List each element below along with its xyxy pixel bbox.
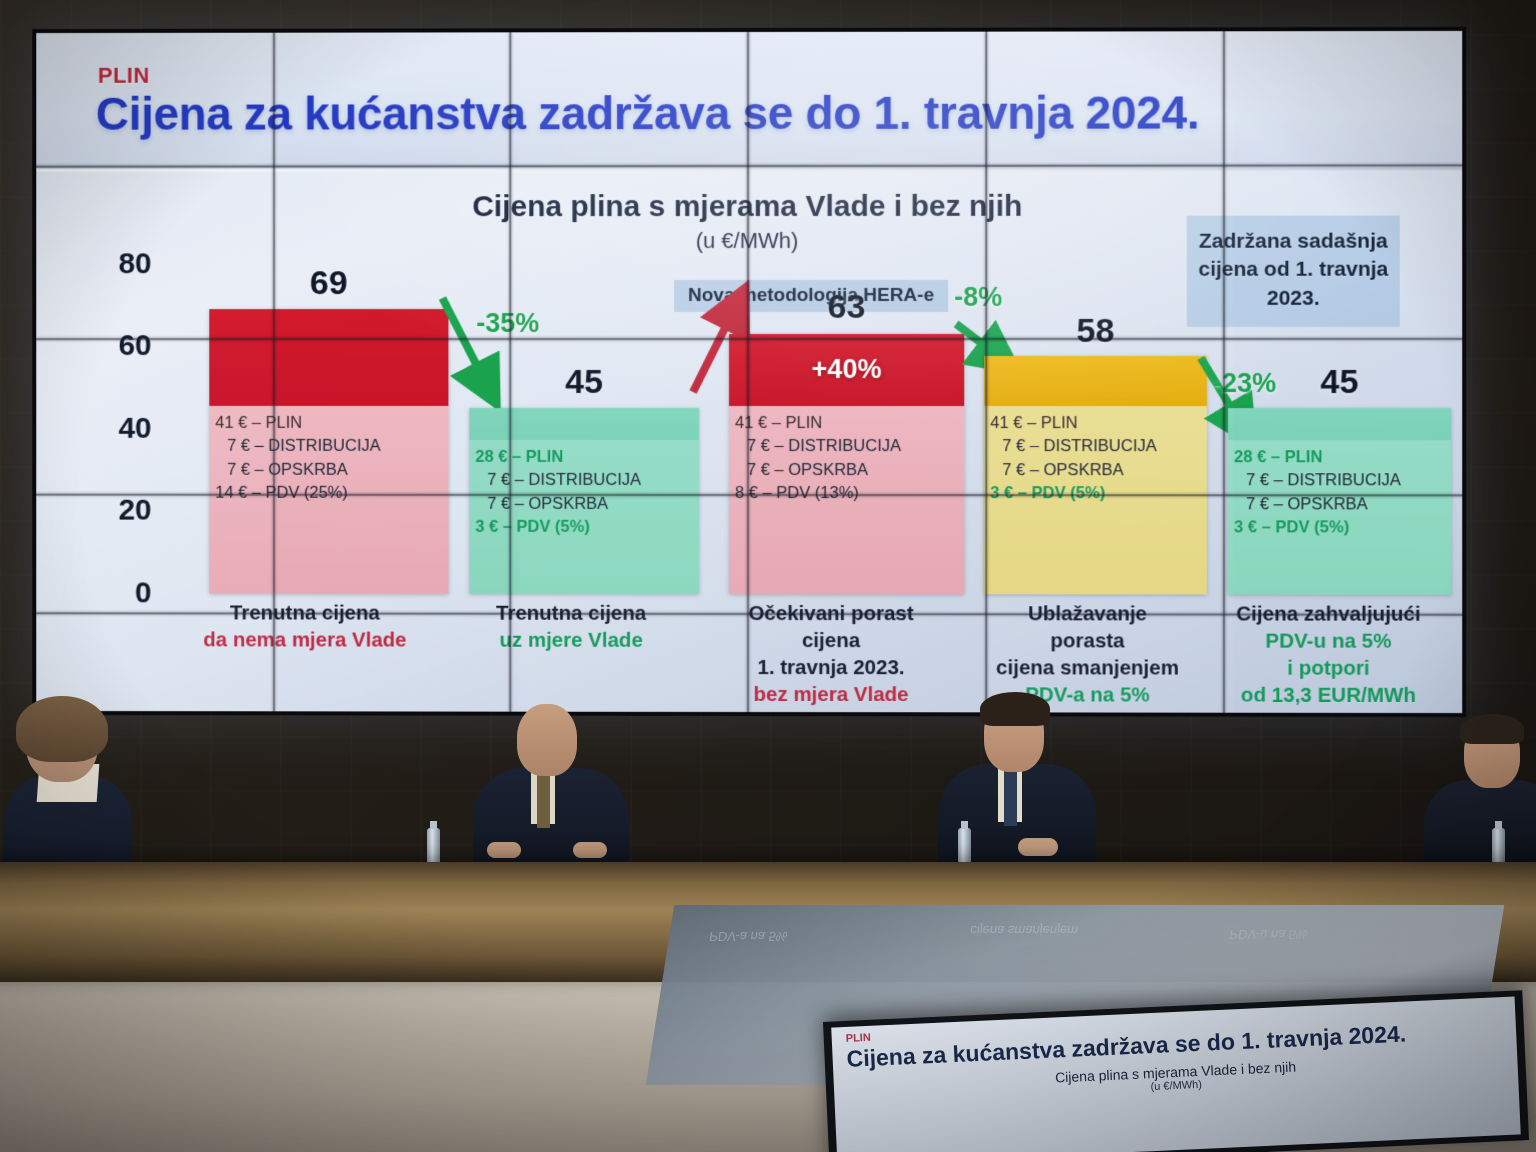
panelist-1 xyxy=(0,705,140,880)
slide-kicker: PLIN xyxy=(98,63,150,89)
y-tick-0: 0 xyxy=(135,576,152,610)
bar-2-top-segment xyxy=(469,408,699,440)
reflection-text-2: cijena smanjenjem xyxy=(969,923,1079,938)
bar-4-item-2: 7 € – OPSKRBA xyxy=(984,459,1207,483)
bar-1-item-2: 7 € – OPSKRBA xyxy=(209,459,448,482)
panelist-3-hair xyxy=(980,692,1050,726)
bar-column-1: 69 41 € – PLIN 7 € – DISTRIBUCIJA 7 € – … xyxy=(209,264,448,594)
caption-4-line-0: Ublažavanje xyxy=(962,600,1213,627)
caption-1: Trenutna cijena da nema mjera Vlade xyxy=(180,599,429,653)
caption-5-line-2: i potpori xyxy=(1203,655,1454,682)
bar-4-item-3: 3 € – PDV (5%) xyxy=(984,482,1207,506)
bar-column-2: 45 28 € – PLIN 7 € – DISTRIBUCIJA 7 € – … xyxy=(469,264,699,594)
y-tick-20: 20 xyxy=(118,494,151,528)
bar-column-4: 58 41 € – PLIN 7 € – DISTRIBUCIJA 7 € – … xyxy=(984,264,1207,595)
y-axis: 80 60 40 20 0 xyxy=(80,264,152,593)
video-wall: PLIN Cijena za kućanstva zadržava se do … xyxy=(32,27,1466,717)
bar-3-item-3: 8 € – PDV (13%) xyxy=(729,482,964,506)
bar-4-top-segment xyxy=(984,356,1207,406)
caption-1-line-1: da nema mjera Vlade xyxy=(180,626,429,653)
caption-2-line-1: uz mjere Vlade xyxy=(446,627,696,654)
bar-3-item-1: 7 € – DISTRIBUCIJA xyxy=(729,435,964,459)
panelist-2-hand-left xyxy=(487,842,521,858)
bar-2: 28 € – PLIN 7 € – DISTRIBUCIJA 7 € – OPS… xyxy=(469,408,699,594)
bar-3-breakdown: 41 € – PLIN 7 € – DISTRIBUCIJA 7 € – OPS… xyxy=(729,406,964,594)
bar-1-item-3: 14 € – PDV (25%) xyxy=(209,482,448,506)
presentation-slide: PLIN Cijena za kućanstva zadržava se do … xyxy=(36,31,1462,713)
panelist-2-head xyxy=(517,704,577,776)
y-tick-60: 60 xyxy=(118,329,151,363)
caption-2: Trenutna cijena uz mjere Vlade xyxy=(446,600,696,654)
bar-1: 41 € – PLIN 7 € – DISTRIBUCIJA 7 € – OPS… xyxy=(209,309,448,594)
caption-5-line-0: Cijena zahvaljujući xyxy=(1203,600,1454,627)
bar-4-item-1: 7 € – DISTRIBUCIJA xyxy=(984,435,1207,459)
bar-value-2: 45 xyxy=(469,363,699,402)
bar-2-item-3: 3 € – PDV (5%) xyxy=(469,516,699,540)
panelist-2 xyxy=(465,700,635,880)
bar-1-item-0: 41 € – PLIN xyxy=(209,412,448,435)
caption-4-line-1: porasta xyxy=(962,627,1213,654)
bar-value-3: 63 xyxy=(729,288,964,327)
panelists-row xyxy=(0,690,1536,880)
bar-5: 28 € – PLIN 7 € – DISTRIBUCIJA 7 € – OPS… xyxy=(1228,408,1451,595)
panelist-1-hair xyxy=(16,696,108,762)
bar-column-3: 63 +40% 41 € – PLIN 7 € – DISTRIBUCIJA 7… xyxy=(729,264,964,594)
panelist-4-hair xyxy=(1460,714,1524,744)
panelist-2-hand-right xyxy=(573,842,607,858)
bar-3-inbar-percent: +40% xyxy=(729,354,964,385)
bar-3: +40% 41 € – PLIN 7 € – DISTRIBUCIJA 7 € … xyxy=(729,334,964,594)
bar-1-item-1: 7 € – DISTRIBUCIJA xyxy=(209,435,448,458)
bar-value-5: 45 xyxy=(1228,363,1451,402)
bar-2-item-2: 7 € – OPSKRBA xyxy=(469,493,699,517)
bar-2-item-1: 7 € – DISTRIBUCIJA xyxy=(469,469,699,493)
panelist-4 xyxy=(1420,715,1536,880)
caption-3-line-0: Očekivani porast xyxy=(706,600,956,627)
bar-4-breakdown: 41 € – PLIN 7 € – DISTRIBUCIJA 7 € – OPS… xyxy=(984,406,1207,594)
caption-5-line-1: PDV-u na 5% xyxy=(1203,628,1454,655)
bar-value-4: 58 xyxy=(984,312,1207,351)
bar-5-breakdown: 28 € – PLIN 7 € – DISTRIBUCIJA 7 € – OPS… xyxy=(1228,440,1451,595)
bar-column-5: 45 28 € – PLIN 7 € – DISTRIBUCIJA 7 € – … xyxy=(1228,264,1451,595)
bar-chart-plot: 69 41 € – PLIN 7 € – DISTRIBUCIJA 7 € – … xyxy=(185,264,1456,595)
bar-5-item-2: 7 € – OPSKRBA xyxy=(1228,493,1451,517)
caption-4-line-2: cijena smanjenjem xyxy=(962,654,1213,681)
caption-2-line-0: Trenutna cijena xyxy=(446,600,696,627)
caption-3-line-1: cijena xyxy=(706,627,956,654)
slide-title: Cijena za kućanstva zadržava se do 1. tr… xyxy=(96,85,1402,140)
caption-1-line-0: Trenutna cijena xyxy=(180,599,429,626)
panelist-3-hands xyxy=(1018,838,1058,856)
bar-value-1: 69 xyxy=(209,264,448,303)
y-tick-80: 80 xyxy=(118,247,151,281)
header-divider xyxy=(36,167,1462,171)
bar-1-breakdown: 41 € – PLIN 7 € – DISTRIBUCIJA 7 € – OPS… xyxy=(209,406,448,594)
bar-3-item-2: 7 € – OPSKRBA xyxy=(729,459,964,483)
panelist-3-tie xyxy=(1004,766,1017,826)
bar-5-top-segment xyxy=(1228,408,1451,440)
bar-5-item-0: 28 € – PLIN xyxy=(1228,446,1451,470)
bar-1-top-segment xyxy=(209,309,448,406)
panelist-3 xyxy=(930,695,1102,880)
bar-5-item-3: 3 € – PDV (5%) xyxy=(1228,517,1451,541)
bar-3-top-segment: +40% xyxy=(729,334,964,406)
caption-3-line-2: 1. travnja 2023. xyxy=(706,654,956,681)
confidence-monitor-screen: PLIN Cijena za kućanstva zadržava se do … xyxy=(831,997,1521,1152)
reflection-text-1: PDV-a na 5% xyxy=(708,929,788,944)
panelist-2-tie xyxy=(537,770,550,828)
bar-5-item-1: 7 € – DISTRIBUCIJA xyxy=(1228,470,1451,494)
press-conference-room: PLIN Cijena za kućanstva zadržava se do … xyxy=(0,0,1536,1152)
bar-4: 41 € – PLIN 7 € – DISTRIBUCIJA 7 € – OPS… xyxy=(984,356,1207,594)
bar-2-breakdown: 28 € – PLIN 7 € – DISTRIBUCIJA 7 € – OPS… xyxy=(469,440,699,594)
bar-2-item-0: 28 € – PLIN xyxy=(469,446,699,469)
y-tick-40: 40 xyxy=(118,412,151,446)
bar-3-item-0: 41 € – PLIN xyxy=(729,412,964,435)
reflection-text-3: PDV-u na 5% xyxy=(1228,927,1308,942)
bar-4-item-0: 41 € – PLIN xyxy=(984,412,1207,436)
